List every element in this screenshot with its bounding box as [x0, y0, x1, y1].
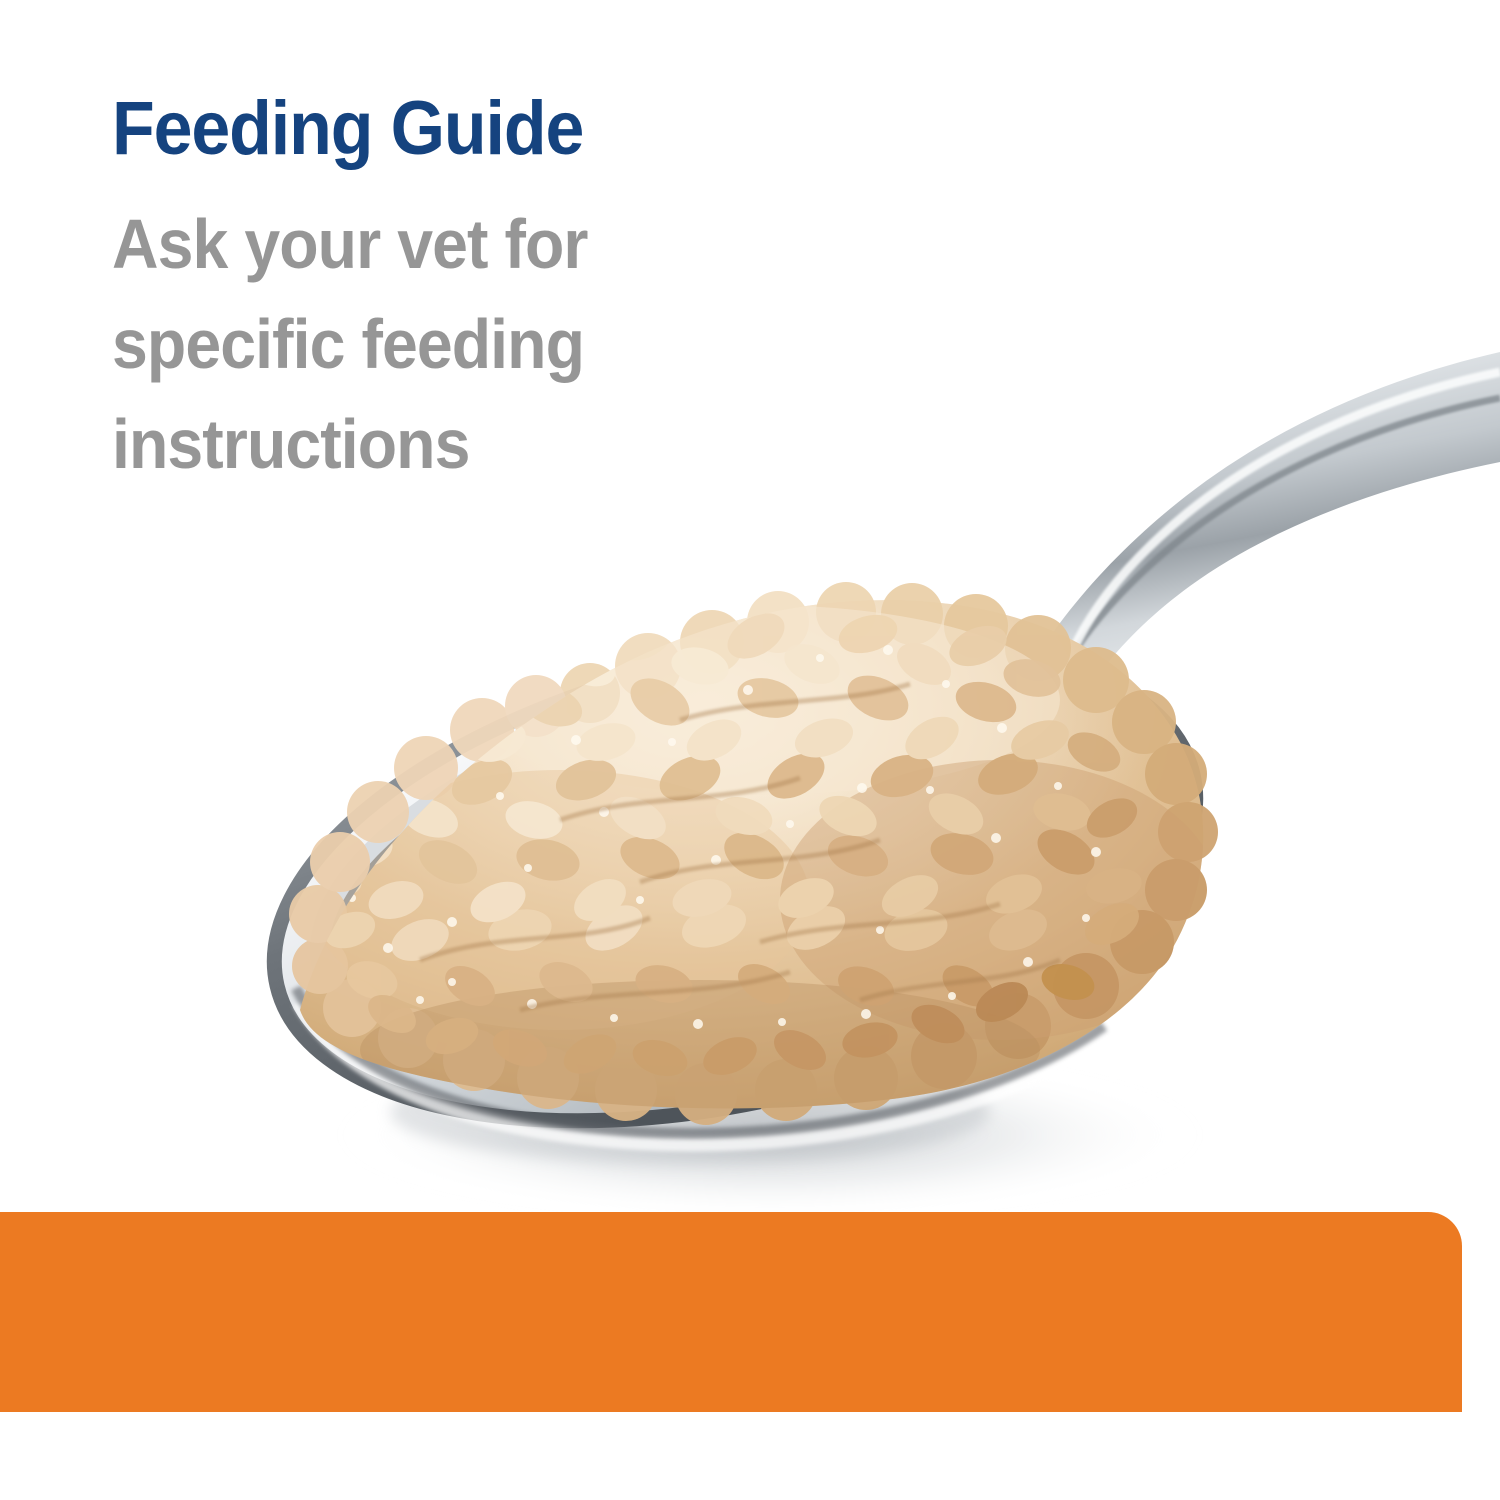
- headline-block: Feeding Guide Ask your vet for specific …: [112, 88, 1012, 494]
- orange-footer-bar: [0, 1212, 1462, 1412]
- subtitle: Ask your vet for specific feeding instru…: [112, 194, 940, 494]
- subtitle-line-3: instructions: [112, 394, 940, 494]
- subtitle-line-1: Ask your vet for: [112, 194, 940, 294]
- feeding-guide-card: Feeding Guide Ask your vet for specific …: [0, 0, 1500, 1500]
- page-title: Feeding Guide: [112, 88, 940, 170]
- subtitle-line-2: specific feeding: [112, 294, 940, 394]
